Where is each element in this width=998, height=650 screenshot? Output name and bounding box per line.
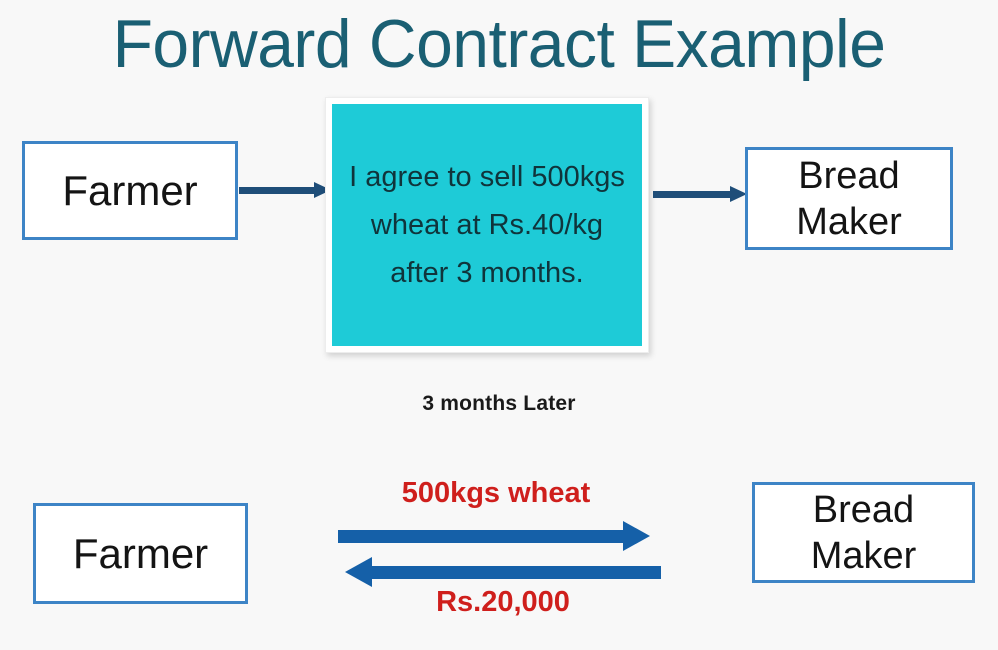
arrow-shaft [338, 530, 625, 543]
arrow-head-right-icon [623, 521, 650, 551]
arrow-farmer-to-contract [239, 179, 331, 201]
goods-flow-label: 500kgs wheat [338, 477, 654, 510]
arrow-head-left-icon [345, 557, 372, 587]
party-box-bread-maker-top: Bread Maker [745, 147, 953, 250]
money-flow-label: Rs.20,000 [345, 586, 661, 619]
contract-card: I agree to sell 500kgs wheat at Rs.40/kg… [325, 97, 649, 353]
party-box-bread-maker-bottom: Bread Maker [752, 482, 975, 583]
arrow-shaft [372, 566, 661, 579]
page-title: Forward Contract Example [15, 4, 983, 84]
arrow-money-bread-maker-to-farmer [345, 557, 661, 587]
party-label-farmer-bottom: Farmer [73, 531, 208, 577]
contract-text: I agree to sell 500kgs wheat at Rs.40/kg… [332, 153, 642, 297]
slide-canvas: Forward Contract Example Farmer I agree … [0, 0, 998, 650]
party-label-bread-maker-top: Bread Maker [796, 153, 902, 245]
timeline-divider-label: 3 months Later [0, 392, 998, 416]
party-label-bread-maker-bottom: Bread Maker [811, 487, 917, 579]
arrow-shaft [653, 191, 733, 198]
arrow-shaft [239, 187, 317, 194]
party-label-farmer-top: Farmer [62, 168, 197, 214]
arrow-goods-farmer-to-bread-maker [338, 521, 650, 551]
arrow-contract-to-bread-maker [653, 183, 747, 205]
party-box-farmer-bottom: Farmer [33, 503, 248, 604]
contract-card-fill: I agree to sell 500kgs wheat at Rs.40/kg… [332, 104, 642, 346]
party-box-farmer-top: Farmer [22, 141, 238, 240]
